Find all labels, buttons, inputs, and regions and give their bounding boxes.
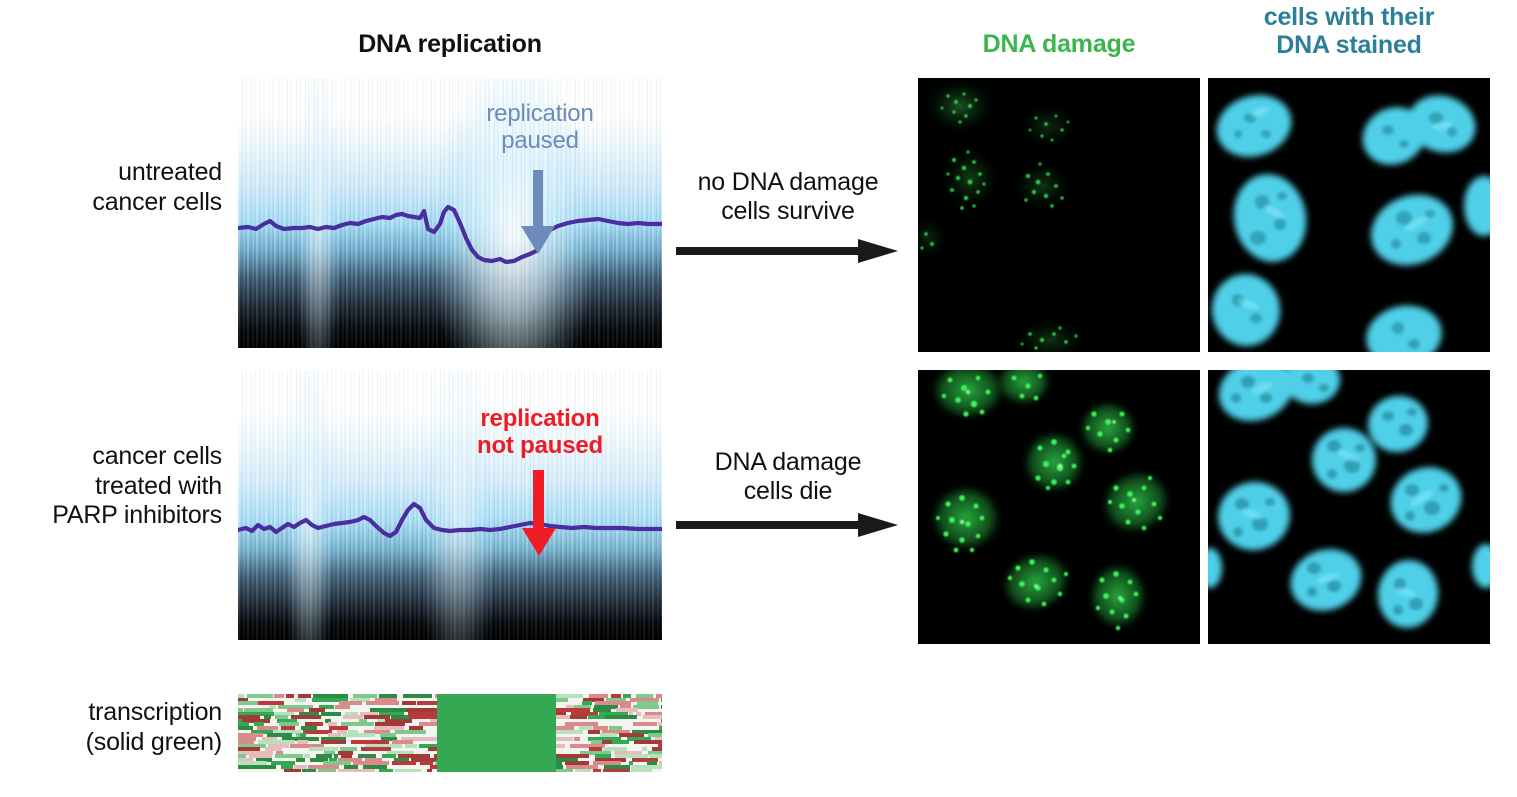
micrograph-image [918, 370, 1200, 644]
process-label-dna-damage-cells-die: DNA damage cells die [668, 448, 908, 506]
process-arrow-right-top-icon [676, 238, 898, 264]
micrograph-image [918, 78, 1200, 352]
micrograph-dna-stained-untreated [1208, 78, 1490, 352]
process-label-no-dna-damage: no DNA damage cells survive [668, 168, 908, 226]
process-arrow-right-bottom-icon [676, 512, 898, 538]
micrograph-image [1208, 370, 1490, 644]
column-title-dna-damage: DNA damage [918, 30, 1200, 58]
annotation-replication-not-paused: replication not paused [440, 405, 640, 460]
column-title-dna-replication: DNA replication [235, 30, 665, 58]
down-arrow-paused-icon [518, 170, 558, 256]
transcription-segment-mixed-left [238, 694, 437, 772]
micrograph-dna-stained-treated [1208, 370, 1490, 644]
micrograph-dna-damage-treated [918, 370, 1200, 644]
row-label-treated-cancer-cells: cancer cells treated with PARP inhibitor… [0, 442, 222, 531]
annotation-replication-paused: replication paused [440, 100, 640, 155]
row-label-transcription: transcription (solid green) [0, 698, 222, 757]
transcription-segment-solid-green [437, 694, 556, 772]
column-title-dna-stained: cells with their DNA stained [1208, 3, 1490, 59]
micrograph-dna-damage-untreated [918, 78, 1200, 352]
down-arrow-not-paused-icon [518, 470, 558, 556]
transcription-track-panel [238, 694, 662, 772]
transcription-segment-mixed-right [556, 694, 662, 772]
row-label-untreated-cancer-cells: untreated cancer cells [0, 158, 222, 217]
micrograph-image [1208, 78, 1490, 352]
